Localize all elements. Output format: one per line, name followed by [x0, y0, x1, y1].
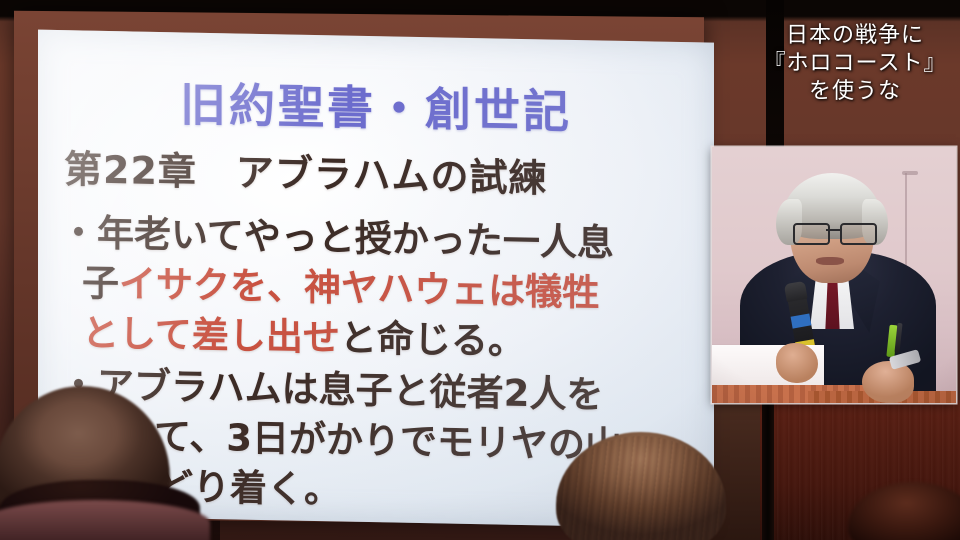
program-title-line-1: 日本の戦争に [752, 22, 958, 50]
microphone-head [784, 281, 808, 302]
speaker-glasses [792, 223, 874, 241]
microphone-label-blue [791, 313, 812, 328]
bullet-1-line-2-run-1: 子 [82, 262, 119, 306]
glasses-bridge [826, 229, 840, 231]
bullet-2-line-1-run-1: ・アブラハムは息子と従者2人を [60, 363, 603, 416]
slide-subtitle: 第22章 アブラハムの試練 [64, 138, 548, 202]
glasses-lens-left [793, 223, 830, 245]
program-title-overlay: 日本の戦争に『ホロコースト』を使うな [752, 22, 958, 106]
speaker-video-inset[interactable] [712, 147, 956, 403]
bullet-1-line-1-run-1: ・年老いてやっと授かった一人息 [60, 211, 614, 265]
glasses-lens-right [840, 223, 877, 245]
speaker-mouth [816, 257, 844, 265]
video-frame: 旧約聖書・創世記 第22章 アブラハムの試練 ・年老いてやっと授かった一人息子イ… [0, 0, 960, 540]
bullet-1-line-3-run-1: として差し出せ [82, 312, 340, 360]
speaker-hand-right [862, 361, 914, 403]
slide-bullet-1: ・年老いてやっと授かった一人息子イサクを、神ヤハウェは犠牲として差し出せと命じる… [60, 208, 720, 371]
program-title-line-3: を使うな [752, 78, 958, 106]
bullet-1-line-2-run-2: イサクを、神ヤハウェは犠牲 [119, 262, 599, 314]
speaker-hand-left [776, 343, 818, 383]
program-title-line-2: 『ホロコースト』 [752, 50, 958, 78]
inset-wall-fixture [902, 171, 918, 175]
wood-paneling-seam [762, 400, 774, 540]
bullet-1-line-3-run-2: と命じる。 [340, 316, 525, 363]
slide-title: 旧約聖書・創世記 [38, 66, 714, 145]
